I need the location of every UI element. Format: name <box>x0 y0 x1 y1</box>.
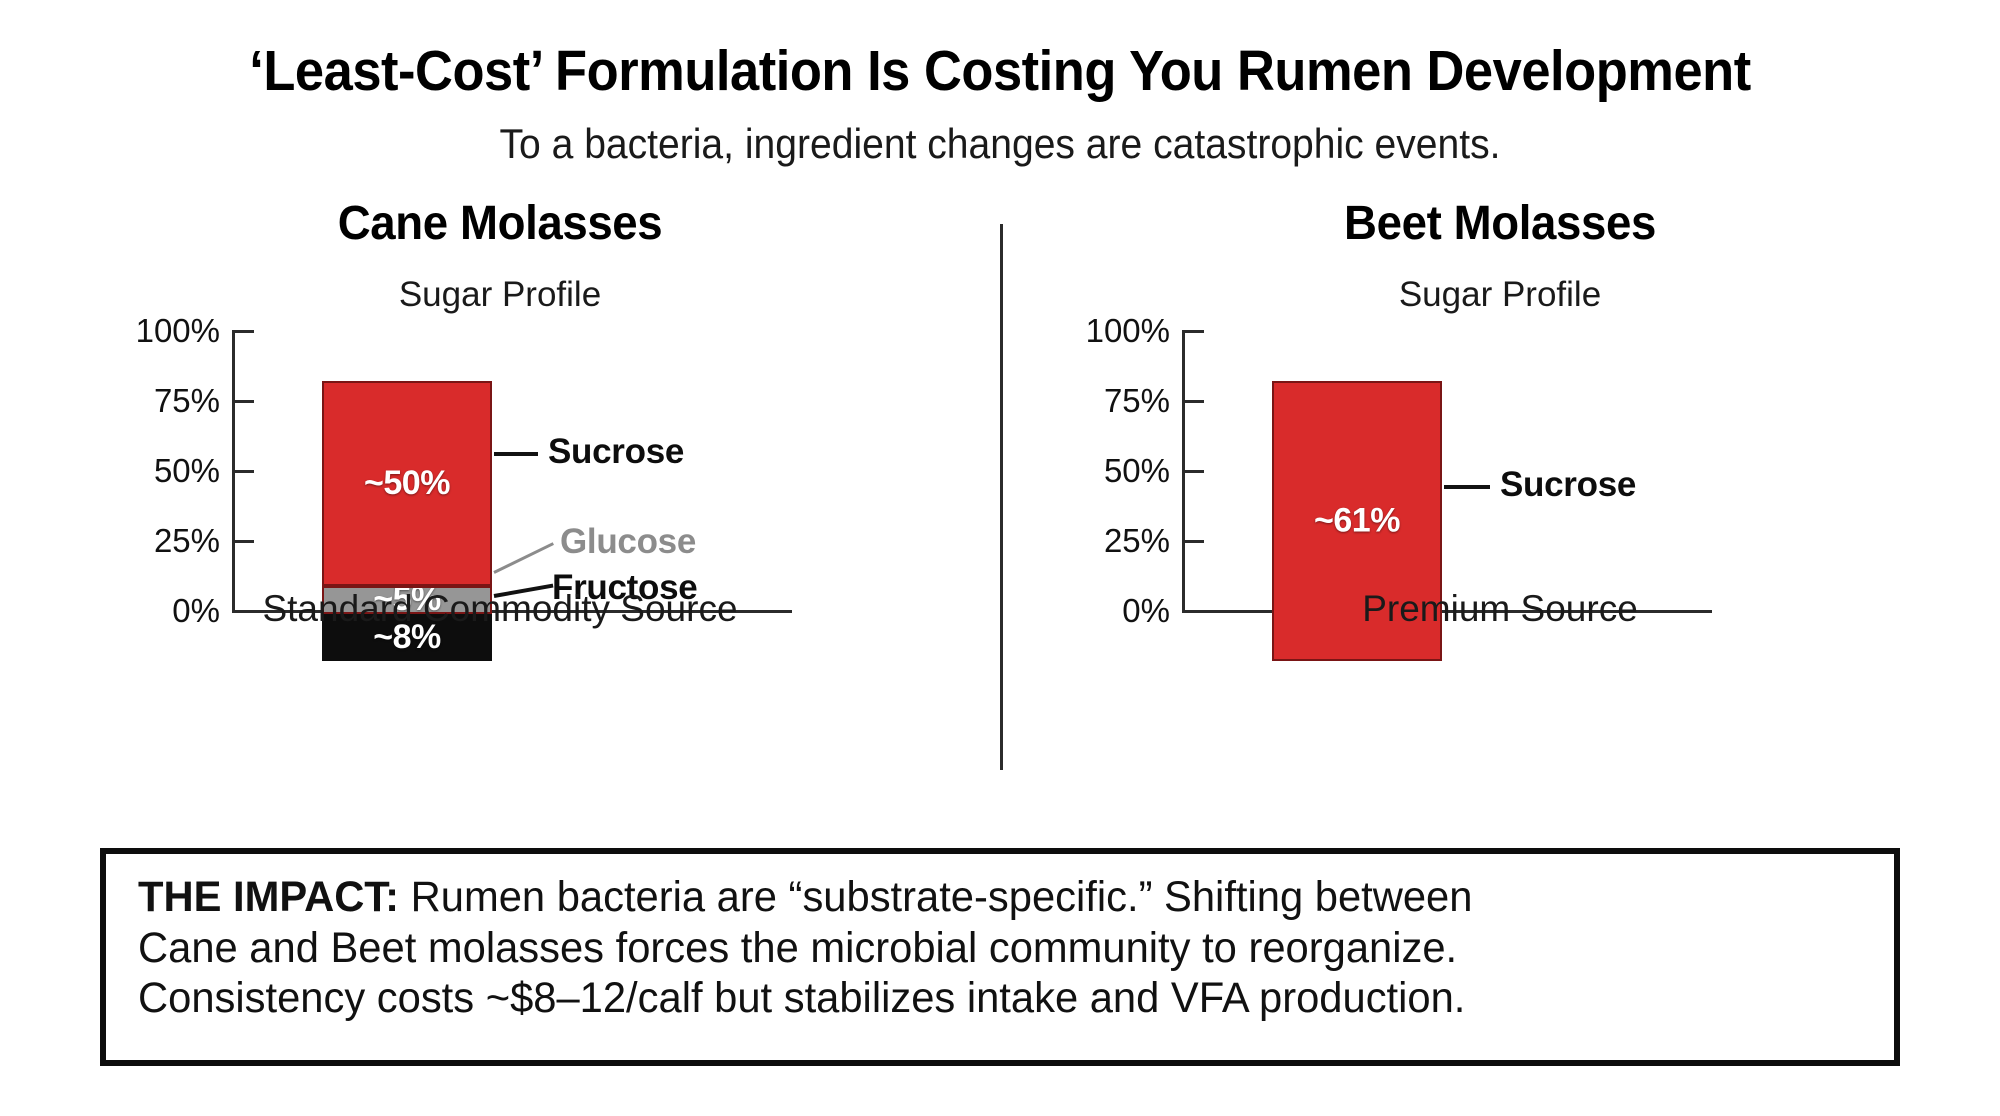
axis-caption-cane: Standard Commodity Source <box>0 588 1000 630</box>
header: ‘Least-Cost’ Formulation Is Costing You … <box>0 0 2000 168</box>
panel-title-beet: Beet Molasses <box>1025 196 1975 251</box>
impact-line-1-rest: Rumen bacteria are “substrate-specific.”… <box>399 873 1472 921</box>
impact-line-2: Cane and Beet molasses forces the microb… <box>138 923 1812 974</box>
y-axis-tick-50-beet <box>1182 470 1204 473</box>
y-axis-tick-75-cane <box>232 400 254 403</box>
charts-region: Cane Molasses Sugar Profile 100% 75% 50%… <box>0 196 2000 776</box>
y-tick-25: 25% <box>154 522 220 560</box>
y-axis-tick-100-beet <box>1182 330 1204 333</box>
bar-segment-sucrose-cane[interactable]: ~50% <box>322 381 492 585</box>
y-axis-labels-cane: 100% 75% 50% 25% 0% <box>100 331 220 611</box>
bar-value-sucrose-cane: ~50% <box>364 464 450 503</box>
bar-value-sucrose-beet: ~61% <box>1314 502 1400 541</box>
y-tick-75-beet: 75% <box>1104 382 1170 420</box>
y-tick-100-beet: 100% <box>1086 312 1170 350</box>
y-axis-labels-beet: 100% 75% 50% 25% 0% <box>1050 331 1170 611</box>
impact-line-1: THE IMPACT: Rumen bacteria are “substrat… <box>138 872 1812 923</box>
y-tick-25-beet: 25% <box>1104 522 1170 560</box>
callout-sucrose-beet: Sucrose <box>1500 465 1636 505</box>
y-axis-tick-75-beet <box>1182 400 1204 403</box>
y-tick-50-beet: 50% <box>1104 452 1170 490</box>
impact-lead-label: THE IMPACT: <box>138 873 399 921</box>
impact-line-3: Consistency costs ~$8–12/calf but stabil… <box>138 973 1812 1024</box>
panel-cane-molasses: Cane Molasses Sugar Profile 100% 75% 50%… <box>0 196 1000 776</box>
y-axis-tick-100-cane <box>232 330 254 333</box>
panel-beet-molasses: Beet Molasses Sugar Profile 100% 75% 50%… <box>1000 196 2000 776</box>
callout-sucrose-cane: Sucrose <box>548 432 684 472</box>
leader-line-sucrose-beet <box>1444 485 1490 489</box>
callout-glucose-cane: Glucose <box>560 522 696 562</box>
y-axis-tick-25-beet <box>1182 540 1204 543</box>
page-title: ‘Least-Cost’ Formulation Is Costing You … <box>80 40 1920 104</box>
y-tick-50: 50% <box>154 452 220 490</box>
page-subtitle: To a bacteria, ingredient changes are ca… <box>70 120 1930 168</box>
y-axis-tick-25-cane <box>232 540 254 543</box>
axis-caption-beet: Premium Source <box>1000 588 2000 630</box>
y-tick-75: 75% <box>154 382 220 420</box>
panel-subtitle-beet: Sugar Profile <box>1000 275 2000 315</box>
panel-subtitle-cane: Sugar Profile <box>0 275 1000 315</box>
y-axis-tick-50-cane <box>232 470 254 473</box>
panel-title-cane: Cane Molasses <box>25 196 975 251</box>
impact-callout-box: THE IMPACT: Rumen bacteria are “substrat… <box>100 848 1900 1066</box>
leader-line-sucrose-cane <box>494 452 538 456</box>
y-tick-100: 100% <box>136 312 220 350</box>
leader-line-glucose-cane <box>493 542 554 574</box>
